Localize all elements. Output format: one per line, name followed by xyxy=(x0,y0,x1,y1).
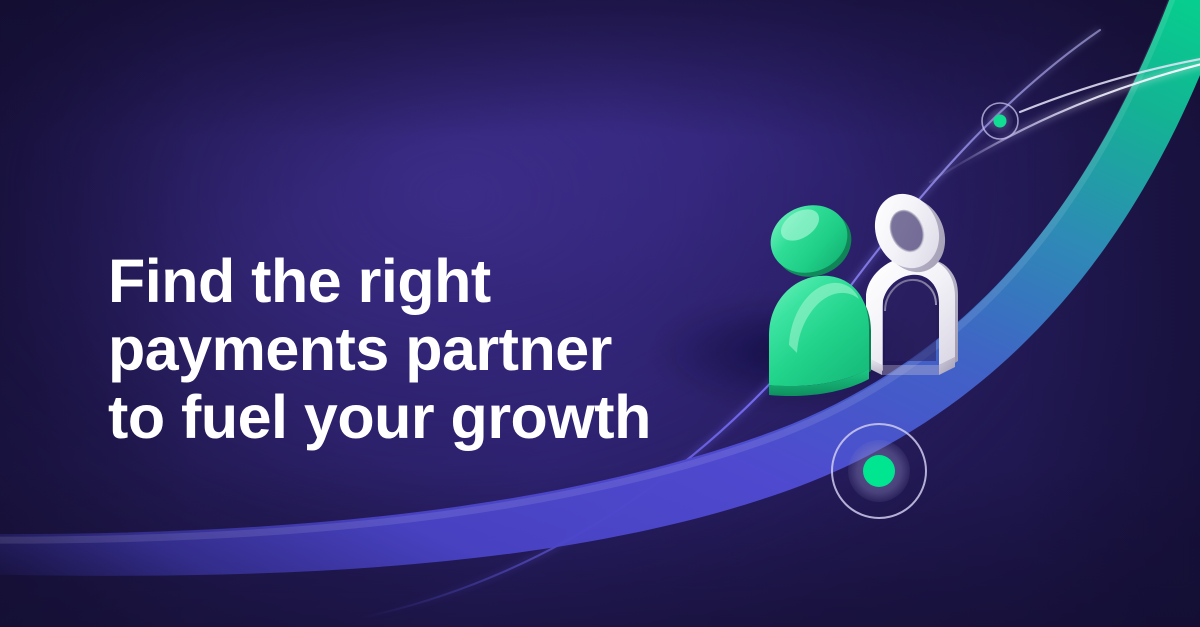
two-people-3d-icon xyxy=(735,185,985,405)
node-dot-small xyxy=(982,103,1018,139)
headline-line-3: to fuel your growth xyxy=(108,383,728,451)
person-filled-green xyxy=(761,195,871,396)
headline: Find the right payments partner to fuel … xyxy=(108,247,728,451)
two-people-icon-svg xyxy=(735,185,985,405)
headline-line-2: payments partner xyxy=(108,315,728,383)
headline-line-1: Find the right xyxy=(108,247,728,315)
white-body-inner-shade xyxy=(885,280,936,361)
green-head xyxy=(761,195,857,284)
white-body-base-front xyxy=(882,365,939,375)
node-dot-small-core xyxy=(994,115,1007,128)
person-outline-white xyxy=(864,185,958,375)
node-dot-large-core xyxy=(863,455,895,487)
promo-banner: Find the right payments partner to fuel … xyxy=(0,0,1200,627)
